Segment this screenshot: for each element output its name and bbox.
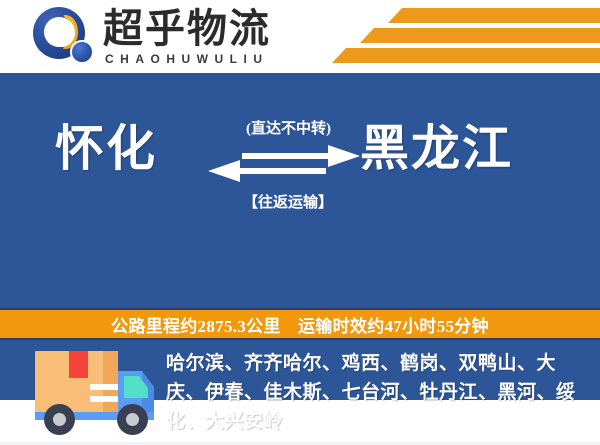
truck-speed-line-1 <box>90 384 118 390</box>
origin-city: 怀化 <box>55 109 157 180</box>
circular-q-logo-icon <box>33 7 95 65</box>
truck-cargo-tape <box>69 351 88 378</box>
round-trip-note: 【往返运输】 <box>243 191 333 212</box>
stripe-1 <box>388 8 600 23</box>
header: 超乎物流 CHAOHUWULIU <box>0 0 600 73</box>
truck-hub-front <box>126 413 139 426</box>
truck-cargo-shade <box>103 351 118 412</box>
coverage-city-list: 哈尔滨、齐齐哈尔、鸡西、鹤岗、双鸭山、大庆、伊春、佳木斯、七台河、牡丹江、黑河、… <box>166 349 588 436</box>
info-bar: 公路里程约2875.3公里 运输时效约47小时55分钟 <box>0 308 600 340</box>
arrow-right <box>242 145 360 167</box>
decorative-stripes <box>330 6 600 68</box>
truck-hub-rear <box>53 413 66 426</box>
logo-accent-dot <box>70 40 94 64</box>
company-name-en: CHAOHUWULIU <box>105 52 269 66</box>
route-section: 怀化 (直达不中转) 【往返运输】 黑龙江 <box>0 73 600 235</box>
stripe-2 <box>360 28 600 43</box>
company-name-cn: 超乎物流 <box>103 8 271 50</box>
truck-speed-line-2 <box>90 396 118 402</box>
direct-route-note: (直达不中转) <box>246 117 331 138</box>
logistics-route-banner: 超乎物流 CHAOHUWULIU 怀化 (直达不中转) 【往返运输】 黑龙江 公… <box>0 0 600 400</box>
blue-body: 怀化 (直达不中转) 【往返运输】 黑龙江 公路里程约2875.3公里 运输时效… <box>0 73 600 400</box>
delivery-truck-icon <box>32 349 164 433</box>
stripe-3 <box>332 48 600 63</box>
logo-inner-hole-overlay <box>48 18 75 47</box>
distance-and-duration-text: 公路里程约2875.3公里 运输时效约47小时55分钟 <box>111 312 489 337</box>
bidirectional-arrow-icon <box>208 145 360 185</box>
destination-city: 黑龙江 <box>360 109 513 180</box>
arrow-left <box>208 160 326 182</box>
